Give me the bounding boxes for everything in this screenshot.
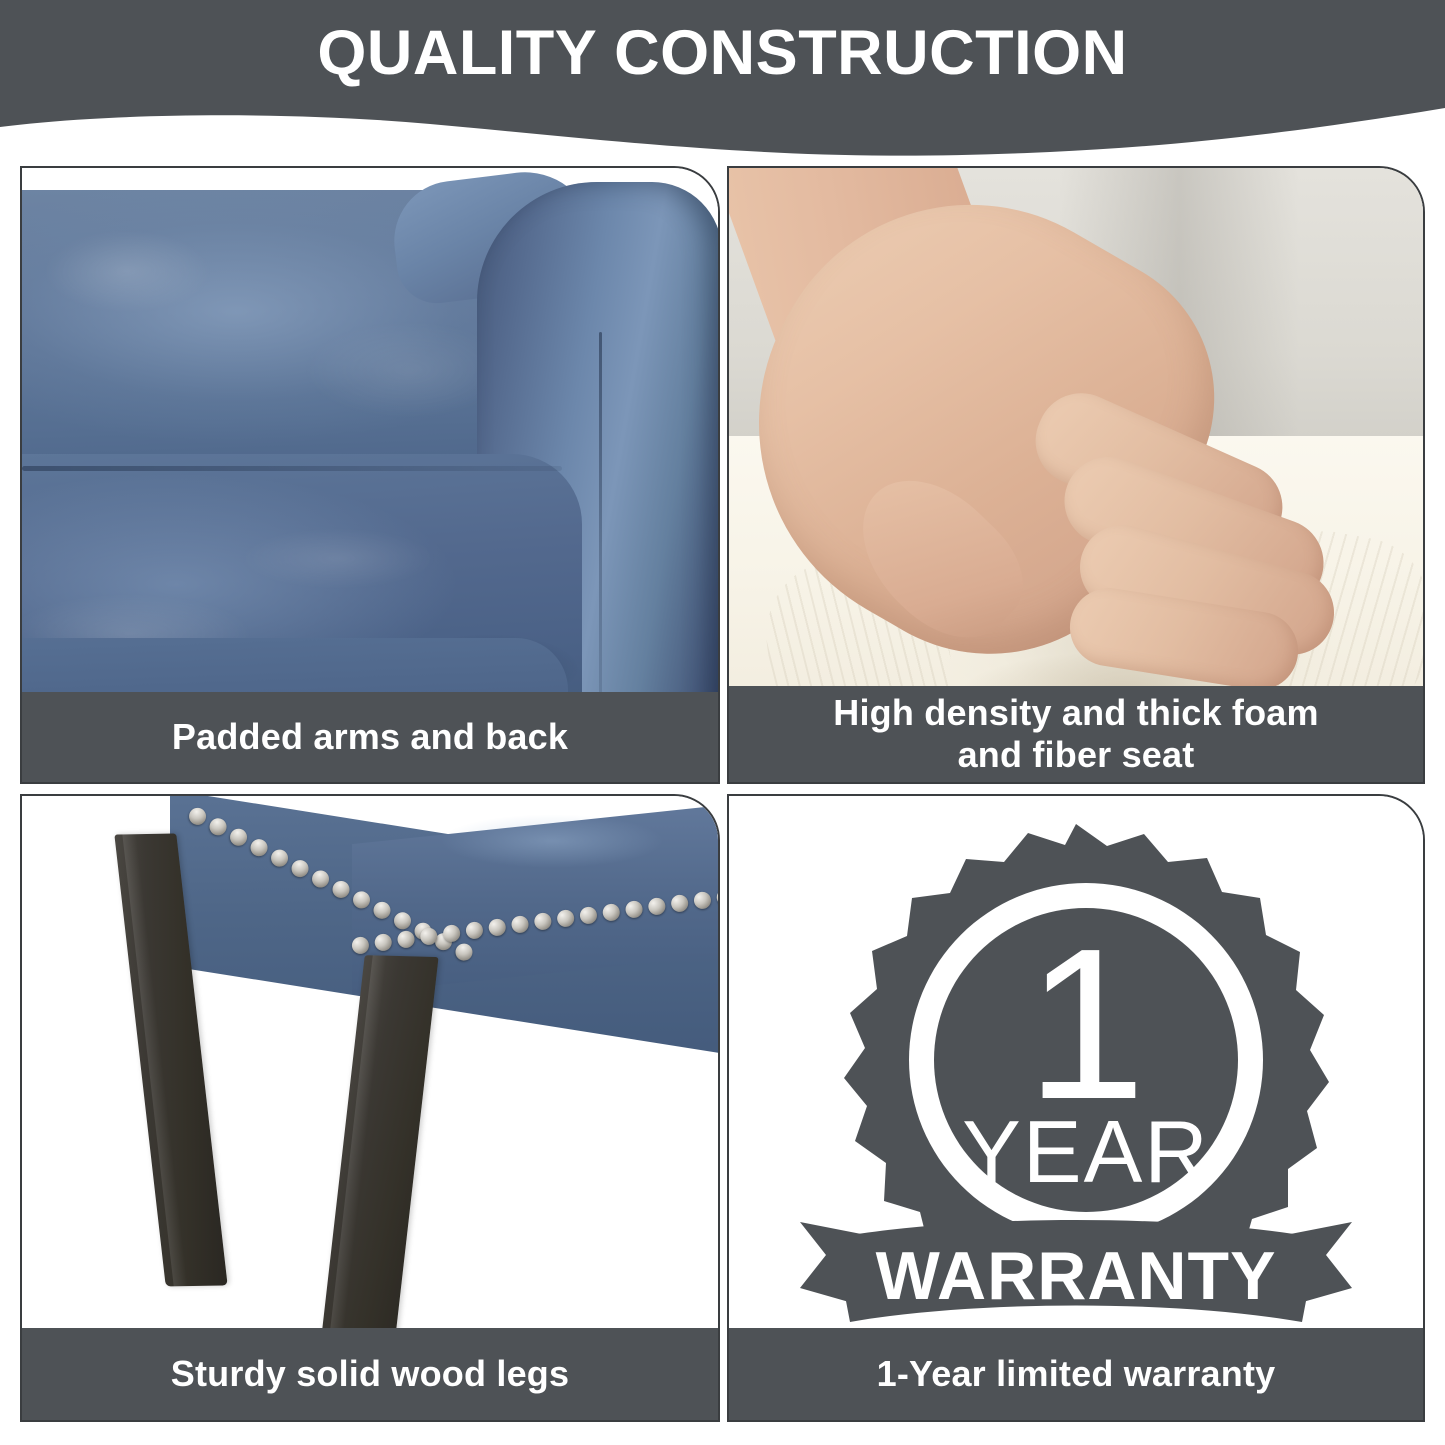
panel-warranty-caption: 1-Year limited warranty xyxy=(877,1353,1276,1395)
warranty-period: YEAR xyxy=(962,1102,1210,1201)
panel-padded-arms-photo xyxy=(22,168,718,782)
panel-wood-legs-caption-bar: Sturdy solid wood legs xyxy=(22,1328,718,1420)
nailhead-stud xyxy=(488,918,507,937)
panel-foam-seat-caption-line-2: and fiber seat xyxy=(958,734,1195,775)
nailhead-stud xyxy=(351,936,370,955)
nailhead-stud xyxy=(647,897,666,916)
panel-warranty-caption-lead: 1 xyxy=(877,1353,897,1394)
nailhead-stud xyxy=(579,906,598,925)
nailhead-stud xyxy=(693,891,712,910)
warranty-seal-icon: 1 YEAR WARRANTY xyxy=(796,810,1356,1330)
wood-legs-illustration xyxy=(22,796,718,1420)
panel-padded-arms-caption-bar: Padded arms and back xyxy=(22,692,718,782)
panel-warranty-graphic: 1 YEAR WARRANTY xyxy=(729,796,1423,1420)
panel-foam-seat-caption: High density and thick foam and fiber se… xyxy=(833,692,1318,776)
warranty-ribbon-label: WARRANTY xyxy=(876,1238,1277,1314)
panel-warranty: 1 YEAR WARRANTY 1-Year limited warranty xyxy=(727,794,1425,1422)
panel-foam-seat-caption-line-1: High density and thick foam xyxy=(833,692,1318,733)
nailhead-stud xyxy=(396,930,415,949)
header-banner: QUALITY CONSTRUCTION xyxy=(0,0,1445,165)
page-title: QUALITY CONSTRUCTION xyxy=(0,22,1445,85)
panel-warranty-caption-bar: 1-Year limited warranty xyxy=(729,1328,1423,1420)
chair-seat-crease xyxy=(22,466,562,471)
panel-padded-arms-caption: Padded arms and back xyxy=(172,716,568,758)
nailhead-stud xyxy=(533,912,552,931)
panel-wood-legs-caption: Sturdy solid wood legs xyxy=(171,1353,569,1395)
nailhead-stud xyxy=(419,927,438,946)
nailhead-stud xyxy=(625,900,644,919)
nailhead-stud xyxy=(556,909,575,928)
panel-wood-legs-photo xyxy=(22,796,718,1420)
nailhead-stud xyxy=(716,888,718,907)
warranty-badge-scene: 1 YEAR WARRANTY xyxy=(729,796,1423,1420)
panel-padded-arms: Padded arms and back xyxy=(20,166,720,784)
leg-highlight xyxy=(122,834,187,1286)
blue-velvet-chair-illustration xyxy=(22,168,718,782)
feature-panel-grid: Padded arms and back xyxy=(0,160,1445,1445)
panel-warranty-caption-rest: -Year limited warranty xyxy=(897,1353,1276,1394)
nailhead-stud xyxy=(511,915,530,934)
quality-construction-infographic: QUALITY CONSTRUCTION Padded arms and bac… xyxy=(0,0,1445,1445)
panel-foam-seat: High density and thick foam and fiber se… xyxy=(727,166,1425,784)
nailhead-stud xyxy=(442,924,461,943)
nailhead-stud xyxy=(374,933,393,952)
panel-foam-seat-caption-bar: High density and thick foam and fiber se… xyxy=(729,686,1423,782)
nailhead-stud xyxy=(602,903,621,922)
seat-highlight xyxy=(402,806,702,876)
nailhead-stud xyxy=(465,921,484,940)
nailhead-stud xyxy=(670,894,689,913)
panel-wood-legs: Sturdy solid wood legs xyxy=(20,794,720,1422)
